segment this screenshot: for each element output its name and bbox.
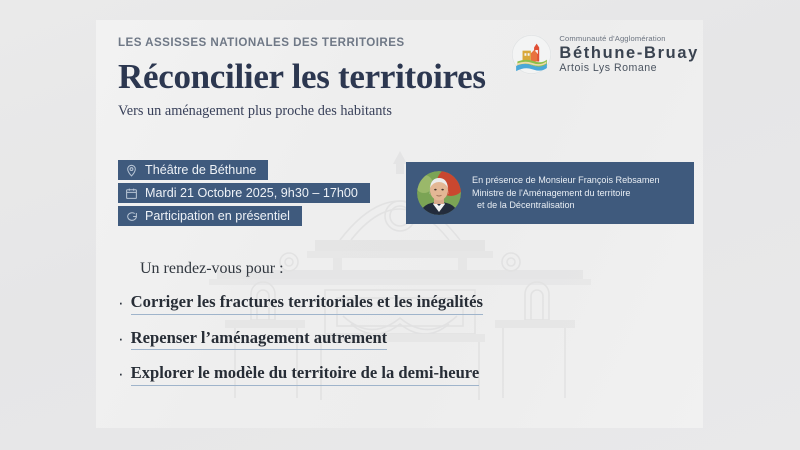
- speaker-line-2: Ministre de l'Aménagement du territoire: [472, 187, 660, 200]
- badge-participation: Participation en présentiel: [118, 206, 302, 226]
- event-info-badges: Théâtre de Béthune Mardi 21 Octobre 2025…: [118, 160, 370, 226]
- badge-date: Mardi 21 Octobre 2025, 9h30 – 17h00: [118, 183, 370, 203]
- speaker-portrait: [417, 171, 461, 215]
- agenda-section: Un rendez-vous pour : · Corriger les fra…: [118, 260, 685, 400]
- logo-line-3: Artois Lys Romane: [559, 63, 699, 74]
- agenda-item-label: Repenser l’aménagement autrement: [131, 329, 388, 351]
- agglomeration-logo: Communauté d'Agglomération Béthune-Bruay…: [511, 34, 699, 75]
- badge-location-label: Théâtre de Béthune: [145, 163, 256, 177]
- calendar-icon: [125, 187, 138, 200]
- presentation-slide: LES ASSISSES NATIONALES DES TERRITOIRES …: [96, 20, 703, 428]
- bullet-icon: ·: [118, 364, 124, 383]
- bullet-icon: ·: [118, 329, 124, 348]
- badge-date-label: Mardi 21 Octobre 2025, 9h30 – 17h00: [145, 186, 358, 200]
- logo-line-2: Béthune-Bruay: [559, 45, 699, 61]
- badge-location: Théâtre de Béthune: [118, 160, 268, 180]
- agenda-item-label: Corriger les fractures territoriales et …: [131, 293, 483, 315]
- badge-participation-label: Participation en présentiel: [145, 209, 290, 223]
- agenda-lead-text: Un rendez-vous pour :: [140, 260, 685, 278]
- map-pin-icon: [125, 164, 138, 177]
- logo-wordmark: Communauté d'Agglomération Béthune-Bruay…: [559, 35, 699, 74]
- list-item: · Repenser l’aménagement autrement: [118, 329, 685, 351]
- logo-line-1: Communauté d'Agglomération: [559, 35, 699, 43]
- speaker-panel: En présence de Monsieur François Rebsame…: [406, 162, 694, 224]
- list-item: · Corriger les fractures territoriales e…: [118, 293, 685, 315]
- speaker-line-1: En présence de Monsieur François Rebsame…: [472, 174, 660, 187]
- speech-bubble-icon: [125, 210, 138, 223]
- bullet-icon: ·: [118, 293, 124, 312]
- speaker-portrait-image: [417, 171, 461, 215]
- speaker-text-block: En présence de Monsieur François Rebsame…: [472, 174, 660, 213]
- agenda-item-label: Explorer le modèle du territoire de la d…: [131, 364, 480, 386]
- town-skyline-logo-icon: [511, 34, 552, 75]
- list-item: · Explorer le modèle du territoire de la…: [118, 364, 685, 386]
- page-subtitle: Vers un aménagement plus proche des habi…: [118, 103, 693, 120]
- speaker-line-3: et de la Décentralisation: [472, 199, 660, 212]
